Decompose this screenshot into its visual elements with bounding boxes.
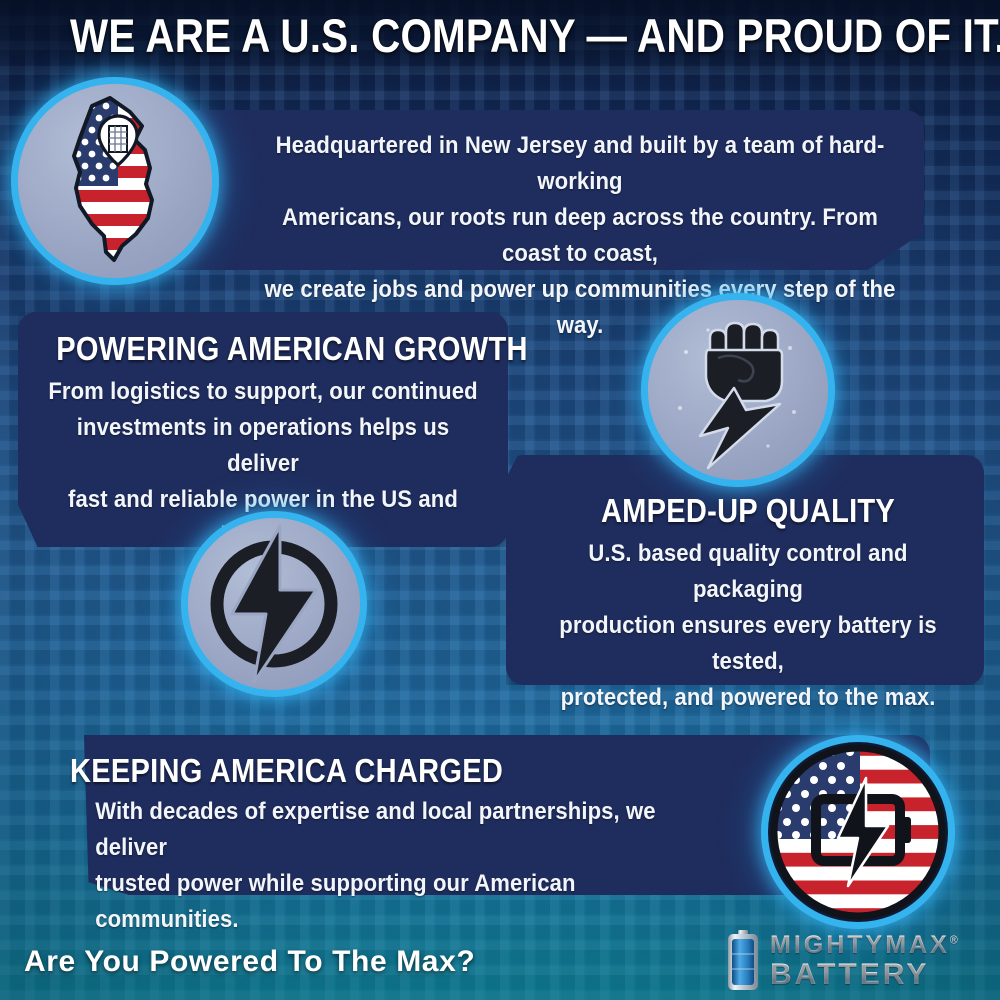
charged-body-line-2: trusted power while supporting our Ameri… [95, 866, 675, 938]
infographic-poster: WE ARE A U.S. COMPANY — AND PROUD OF IT. [0, 0, 1000, 1000]
growth-title: POWERING AMERICAN GROWTH [56, 330, 470, 368]
bolt-in-circle-icon [188, 518, 360, 690]
logo-line-mightymax: MIGHTYMAX® [770, 933, 961, 958]
charged-title: KEEPING AMERICA CHARGED [70, 752, 624, 790]
battery-logo-icon [726, 930, 760, 992]
growth-body-line-2: investments in operations helps us deliv… [47, 410, 479, 482]
quality-title: AMPED-UP QUALITY [546, 492, 951, 530]
logo-line-battery: BATTERY [770, 960, 961, 990]
mighty-max-battery-logo: MIGHTYMAX® BATTERY [726, 930, 961, 992]
charged-text-block: KEEPING AMERICA CHARGED With decades of … [70, 752, 700, 938]
new-jersey-flag-map-icon [18, 84, 212, 278]
quality-body-line-2: production ensures every battery is test… [536, 608, 959, 680]
headquarters-body-line-2: Americans, our roots run deep across the… [251, 200, 910, 272]
fist-with-lightning-icon [648, 300, 828, 480]
headquarters-text-block: Headquartered in New Jersey and built by… [222, 128, 938, 344]
registered-trademark-icon: ® [950, 934, 961, 946]
footer-question: Are You Powered To The Max? [24, 944, 475, 980]
quality-body-line-1: U.S. based quality control and packaging [536, 536, 959, 608]
us-flag-battery-badge [768, 742, 948, 922]
fist-with-lightning-badge [648, 300, 828, 480]
quality-body-line-3: protected, and powered to the max. [536, 680, 959, 716]
headquarters-body-line-1: Headquartered in New Jersey and built by… [251, 128, 910, 200]
growth-body-line-1: From logistics to support, our continued [47, 374, 479, 410]
charged-body-line-1: With decades of expertise and local part… [95, 794, 675, 866]
us-flag-battery-icon [768, 742, 948, 922]
page-title: WE ARE A U.S. COMPANY — AND PROUD OF IT. [70, 8, 930, 64]
quality-text-block: AMPED-UP QUALITY U.S. based quality cont… [518, 492, 978, 716]
logo-wordmark: MIGHTYMAX® BATTERY [770, 933, 961, 990]
new-jersey-flag-map-badge [18, 84, 212, 278]
bolt-in-circle-badge [188, 518, 360, 690]
